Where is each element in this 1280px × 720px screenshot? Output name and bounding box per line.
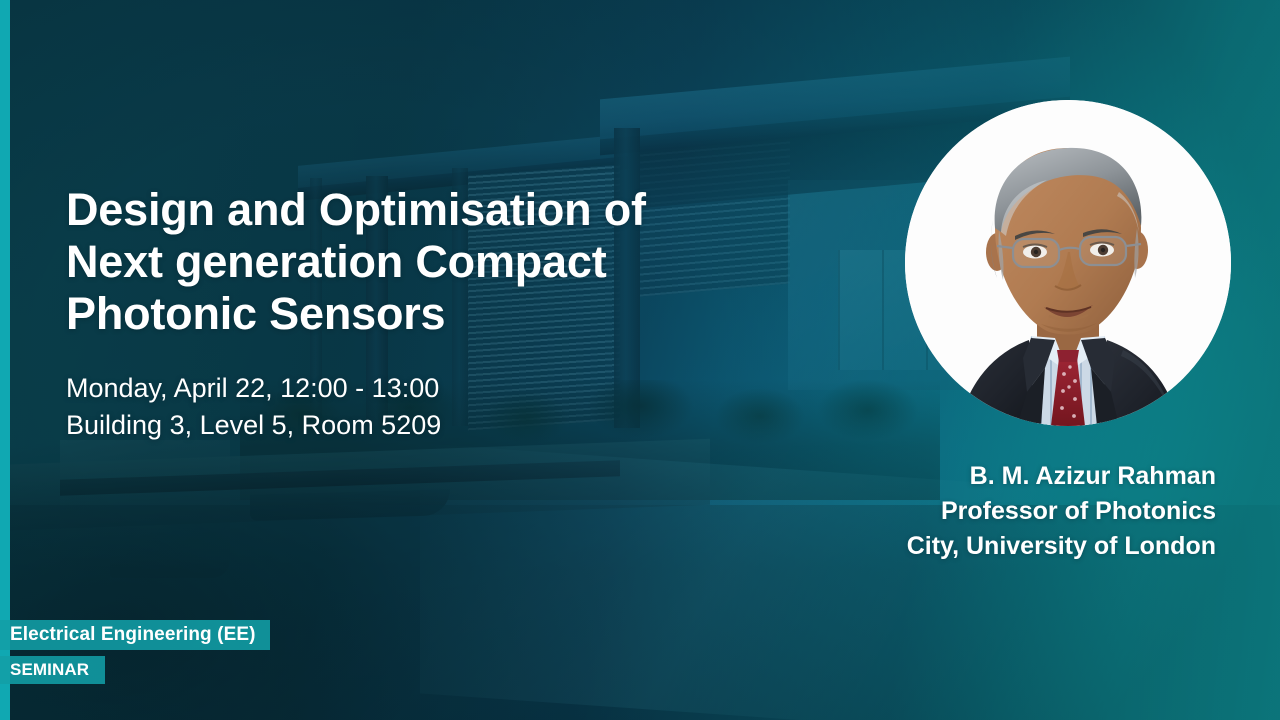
speaker-affiliation: City, University of London (907, 529, 1216, 564)
badge-group: Electrical Engineering (EE) SEMINAR (0, 620, 270, 684)
speaker-role: Professor of Photonics (907, 494, 1216, 529)
left-accent-stripe (0, 0, 10, 720)
speaker-portrait-illustration (905, 100, 1231, 426)
seminar-datetime: Monday, April 22, 12:00 - 13:00 (66, 370, 441, 407)
badge-row-department: Electrical Engineering (EE) (0, 620, 270, 656)
seminar-title: Design and Optimisation of Next generati… (66, 184, 766, 340)
speaker-name: B. M. Azizur Rahman (907, 459, 1216, 494)
seminar-slide: Design and Optimisation of Next generati… (0, 0, 1280, 720)
speaker-block: B. M. Azizur Rahman Professor of Photoni… (907, 459, 1216, 564)
seminar-location: Building 3, Level 5, Room 5209 (66, 407, 441, 444)
seminar-meta: Monday, April 22, 12:00 - 13:00 Building… (66, 370, 441, 444)
department-badge: Electrical Engineering (EE) (0, 620, 270, 650)
badge-row-event-type: SEMINAR (0, 656, 270, 684)
event-type-badge: SEMINAR (0, 656, 105, 684)
speaker-portrait-avatar (905, 100, 1231, 426)
